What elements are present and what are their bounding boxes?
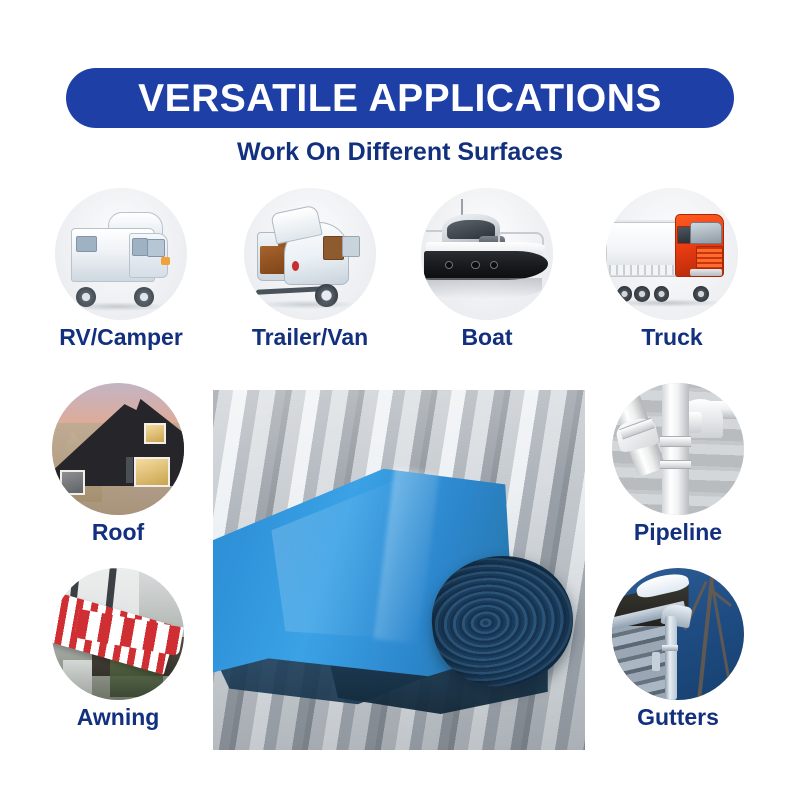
trailer-van-icon [244,188,376,320]
gutters-icon [612,568,744,700]
boat-icon [421,188,553,320]
tile-label-trailer-van: Trailer/Van [244,324,376,351]
tile-gutters: Gutters [612,568,744,731]
tile-awning: Awning [52,568,184,731]
product-photo [213,390,585,750]
page-title: VERSATILE APPLICATIONS [138,79,662,118]
pipeline-icon [612,383,744,515]
tile-label-boat: Boat [421,324,553,351]
tile-label-gutters: Gutters [612,704,744,731]
tile-trailer-van: Trailer/Van [244,188,376,351]
banner: VERSATILE APPLICATIONS [66,68,734,128]
tile-label-rv-camper: RV/Camper [55,324,187,351]
tile-label-pipeline: Pipeline [612,519,744,546]
truck-icon [606,188,738,320]
rv-camper-icon [55,188,187,320]
awning-icon [52,568,184,700]
tile-boat: Boat [421,188,553,351]
tile-label-roof: Roof [52,519,184,546]
roof-icon [52,383,184,515]
tile-truck: Truck [606,188,738,351]
tile-label-awning: Awning [52,704,184,731]
subtitle: Work On Different Surfaces [0,138,800,167]
tile-rv-camper: RV/Camper [55,188,187,351]
tile-pipeline: Pipeline [612,383,744,546]
tile-roof: Roof [52,383,184,546]
tile-label-truck: Truck [606,324,738,351]
infographic-canvas: VERSATILE APPLICATIONS Work On Different… [0,0,800,800]
